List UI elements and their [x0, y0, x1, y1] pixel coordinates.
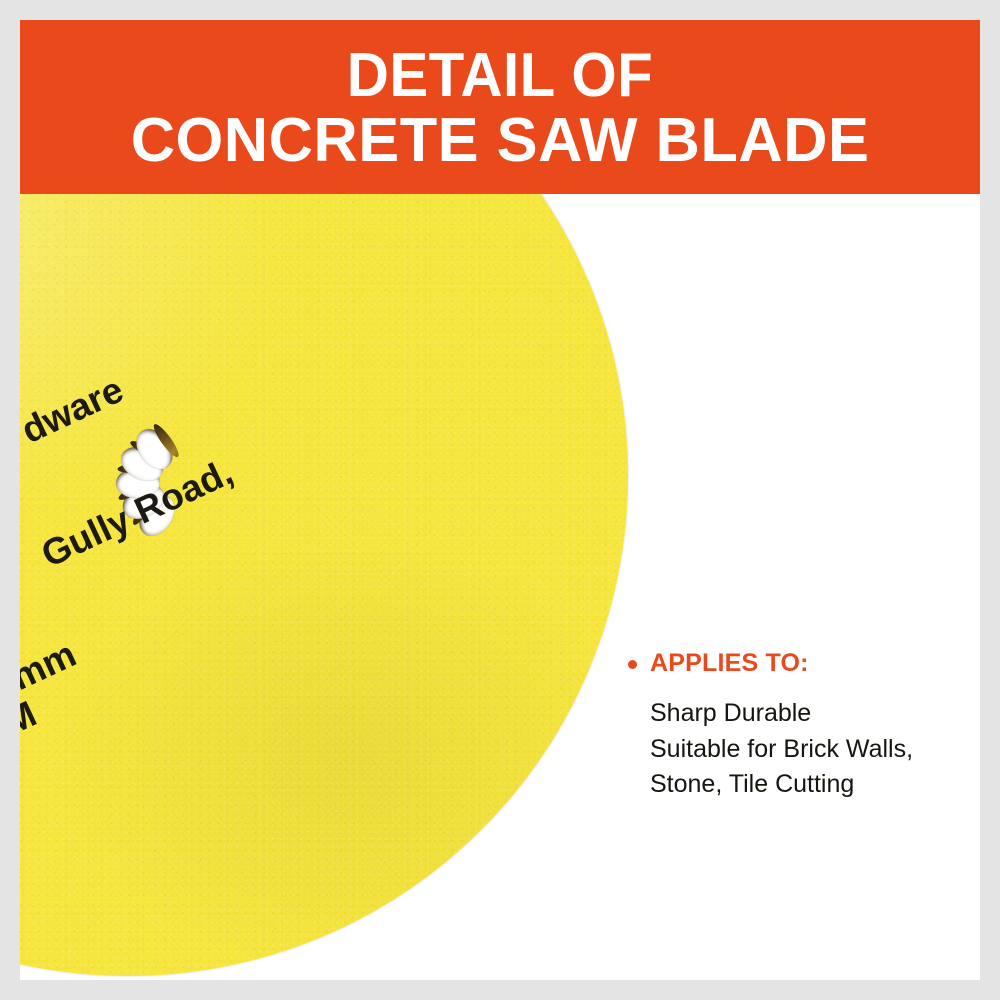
bullet-dot-icon [628, 660, 637, 669]
feature-line: Sharp Durable [650, 696, 980, 732]
applies-to-label: APPLIES TO: [650, 649, 809, 678]
blade-core-texture [20, 194, 628, 976]
image-canvas: DETAIL OF CONCRETE SAW BLADE dware Gully… [20, 20, 980, 980]
blade-photo: dware Gully Road, mm M APPLIES TO: Sharp… [20, 194, 980, 980]
header-title-line-2: CONCRETE SAW BLADE [131, 111, 870, 172]
feature-text-block: APPLIES TO: Sharp Durable Suitable for B… [628, 649, 980, 803]
feature-description: Sharp Durable Suitable for Brick Walls, … [650, 696, 980, 803]
feature-line: Stone, Tile Cutting [650, 767, 980, 803]
applies-to-row: APPLIES TO: [628, 649, 980, 678]
header-banner: DETAIL OF CONCRETE SAW BLADE [20, 20, 980, 194]
feature-line: Suitable for Brick Walls, [650, 732, 980, 768]
header-title-line-1: DETAIL OF [347, 46, 653, 107]
product-image-card: DETAIL OF CONCRETE SAW BLADE dware Gully… [0, 0, 1000, 1000]
